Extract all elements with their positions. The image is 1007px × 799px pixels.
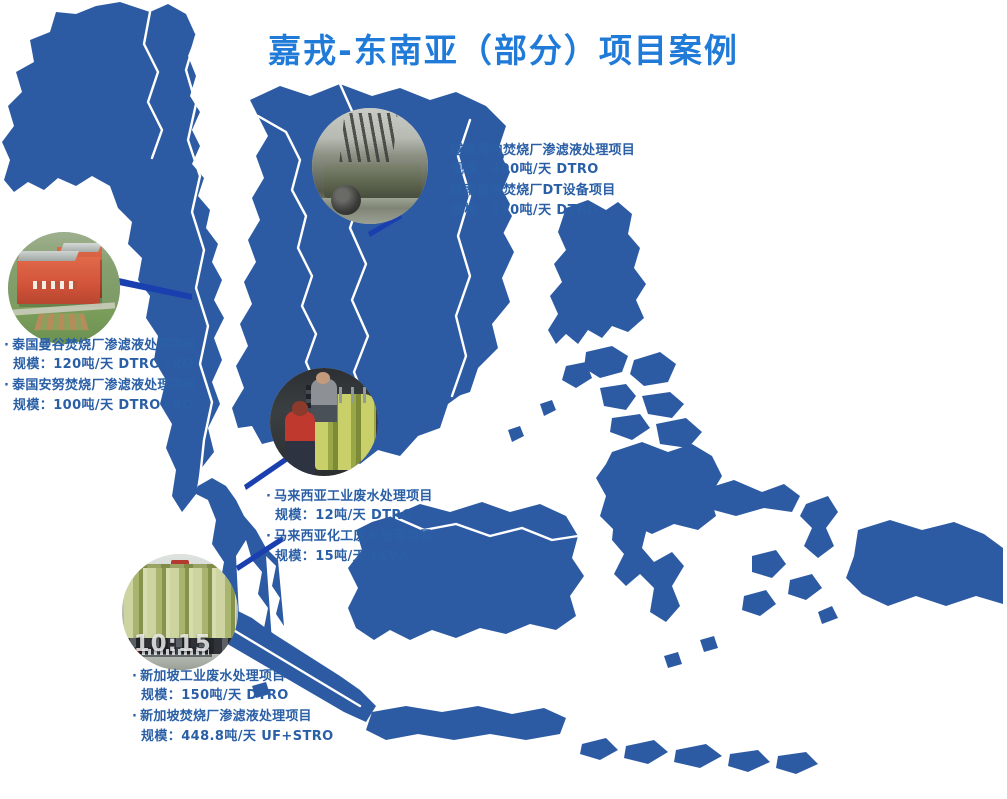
label-group-thailand: 泰国曼谷焚烧厂渗滤液处理项目 规模：120吨/天 DTRO+RO 泰国安努焚烧厂… bbox=[4, 336, 197, 417]
label-group-vietnam: 越南河内焚烧厂渗滤液处理项目 规模：490吨/天 DTRO 越南富寿焚烧厂DT设… bbox=[442, 141, 635, 222]
project-item: 新加坡工业废水处理项目 规模：150吨/天 DTRO bbox=[132, 667, 334, 705]
technician-lower bbox=[285, 411, 315, 474]
membrane-vessels bbox=[124, 568, 235, 640]
landmass-sulawesi-north-arm bbox=[636, 480, 800, 516]
project-spec: 规模：490吨/天 DTRO bbox=[442, 160, 635, 179]
landmass-lesser-sunda bbox=[580, 738, 818, 774]
landmass-maluku bbox=[742, 496, 838, 616]
project-title: 新加坡工业废水处理项目 bbox=[132, 667, 334, 686]
label-group-malaysia: 马来西亚工业废水处理项目 规模：12吨/天 DTRO 马来西亚化工废水处理项目 … bbox=[266, 487, 433, 568]
project-item: 马来西亚化工废水处理项目 规模：15吨/天 LEVA bbox=[266, 527, 433, 565]
project-item: 泰国安努焚烧厂渗滤液处理项目 规模：100吨/天 DTRO+RO bbox=[4, 376, 197, 414]
photo-singapore[interactable]: 10:15 bbox=[122, 554, 238, 670]
project-title: 越南河内焚烧厂渗滤液处理项目 bbox=[442, 141, 635, 160]
project-item: 新加坡焚烧厂渗滤液处理项目 规模：448.8吨/天 UF+STRO bbox=[132, 707, 334, 745]
project-title: 马来西亚工业废水处理项目 bbox=[266, 487, 433, 506]
landmass-papua bbox=[846, 520, 1003, 606]
photo-thailand-image bbox=[8, 232, 120, 344]
floor-shape bbox=[312, 198, 428, 208]
project-spec: 规模：15吨/天 LEVA bbox=[266, 547, 433, 566]
pipe-bundle-icon bbox=[340, 113, 398, 162]
project-item: 越南河内焚烧厂渗滤液处理项目 规模：490吨/天 DTRO bbox=[442, 141, 635, 179]
technician-upper bbox=[311, 379, 337, 422]
project-title: 新加坡焚烧厂渗滤液处理项目 bbox=[132, 707, 334, 726]
photo-thailand[interactable] bbox=[8, 232, 120, 344]
photo-vietnam[interactable] bbox=[312, 108, 428, 224]
project-title: 泰国安努焚烧厂渗滤液处理项目 bbox=[4, 376, 197, 395]
project-spec: 规模：12吨/天 DTRO bbox=[266, 506, 433, 525]
landmass-visayas bbox=[562, 346, 702, 448]
project-spec: 规模：448.8吨/天 UF+STRO bbox=[132, 727, 334, 746]
project-title: 泰国曼谷焚烧厂渗滤液处理项目 bbox=[4, 336, 197, 355]
project-title: 马来西亚化工废水处理项目 bbox=[266, 527, 433, 546]
photo-timestamp: 10:15 bbox=[134, 631, 212, 657]
photo-malaysia-image bbox=[270, 368, 378, 476]
plant-building-front bbox=[17, 257, 100, 304]
project-spec: 规模：120吨/天 DTRO+RO bbox=[4, 355, 197, 374]
landmass-java bbox=[366, 706, 566, 740]
project-title: 越南富寿焚烧厂DT设备项目 bbox=[442, 181, 635, 200]
project-spec: 规模：100吨/天 DTRO+RO bbox=[4, 396, 197, 415]
building-windows bbox=[33, 281, 78, 289]
page-title: 嘉戎-东南亚（部分）项目案例 bbox=[0, 24, 1007, 72]
project-spec: 规模：170吨/天 DTRO bbox=[442, 201, 635, 220]
drum-shape bbox=[331, 185, 361, 215]
photo-vietnam-image bbox=[312, 108, 428, 224]
project-item: 越南富寿焚烧厂DT设备项目 规模：170吨/天 DTRO bbox=[442, 181, 635, 219]
photo-malaysia[interactable] bbox=[270, 368, 378, 476]
project-item: 泰国曼谷焚烧厂渗滤液处理项目 规模：120吨/天 DTRO+RO bbox=[4, 336, 197, 374]
plant-roof-front bbox=[17, 251, 79, 261]
project-spec: 规模：150吨/天 DTRO bbox=[132, 686, 334, 705]
label-group-singapore: 新加坡工业废水处理项目 规模：150吨/天 DTRO 新加坡焚烧厂渗滤液处理项目… bbox=[132, 667, 334, 748]
photo-singapore-image: 10:15 bbox=[122, 554, 238, 670]
garden-plot bbox=[34, 314, 89, 331]
technician-lower-head bbox=[292, 401, 308, 415]
project-item: 马来西亚工业废水处理项目 规模：12吨/天 DTRO bbox=[266, 487, 433, 525]
